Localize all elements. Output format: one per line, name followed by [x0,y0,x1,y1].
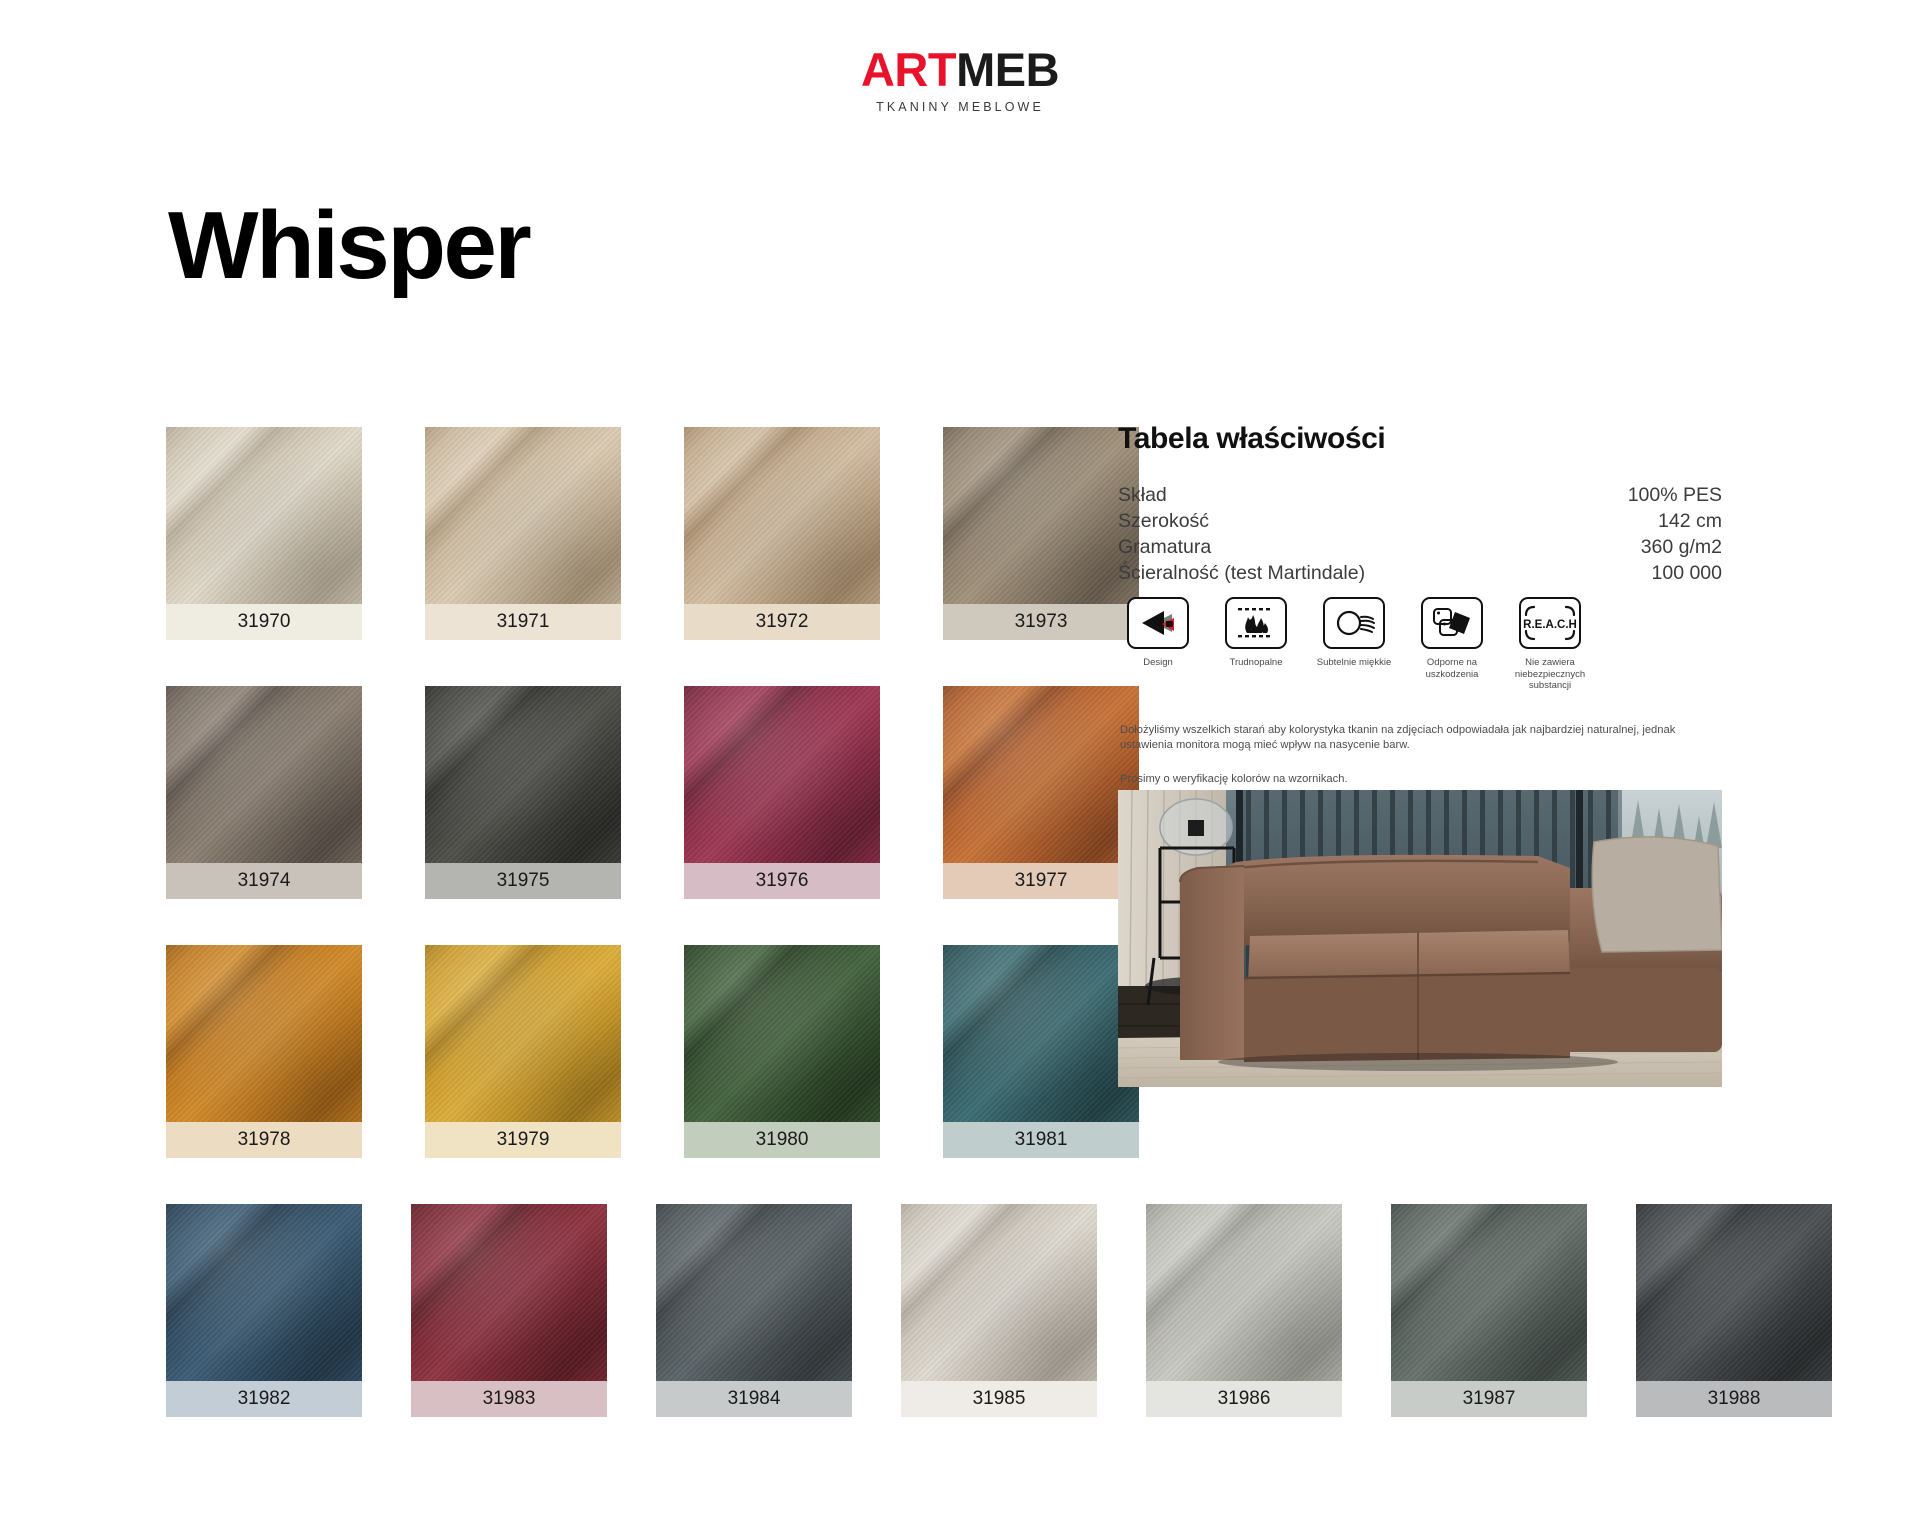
swatch-code-label: 31977 [943,863,1139,899]
feature-item: R.E.A.C.HNie zawiera niebezpiecznych sub… [1512,597,1588,692]
swatch-image [411,1204,607,1381]
swatch-image [656,1204,852,1381]
swatch-code-label: 31976 [684,863,880,899]
swatch-texture [684,427,880,604]
disclaimer-block: Dołożyliśmy wszelkich starań aby kolorys… [1120,723,1720,787]
swatch-code-label: 31982 [166,1381,362,1417]
damage-resistant-icon [1421,597,1483,649]
properties-panel: Tabela właściwości Skład100% PESSzerokoś… [1118,422,1722,586]
swatch-code-label: 31978 [166,1122,362,1158]
swatch-code-label: 31983 [411,1381,607,1417]
swatch-texture [1391,1204,1587,1381]
feature-item: Trudnopalne [1218,597,1294,692]
swatch-texture [166,945,362,1122]
logo-art-text: ART [861,43,956,96]
property-label: Szerokość [1118,508,1209,534]
swatch-texture [684,945,880,1122]
fabric-swatch[interactable]: 31978 [166,945,362,1158]
swatch-image [1146,1204,1342,1381]
properties-table: Skład100% PESSzerokość142 cmGramatura360… [1118,482,1722,586]
property-value: 100 000 [1652,560,1723,586]
property-value: 360 g/m2 [1641,534,1722,560]
fabric-swatch[interactable]: 31985 [901,1204,1097,1417]
fabric-swatch[interactable]: 31974 [166,686,362,899]
feature-item: Odporne na uszkodzenia [1414,597,1490,692]
reach-icon: R.E.A.C.H [1519,597,1581,649]
swatch-code-label: 31980 [684,1122,880,1158]
swatch-texture [425,427,621,604]
swatch-texture [411,1204,607,1381]
swatch-image [943,427,1139,604]
design-arrow-icon [1127,597,1189,649]
site-header: ARTMEB TKANINY MEBLOWE [0,46,1920,114]
swatch-code-label: 31987 [1391,1381,1587,1417]
swatch-texture [684,686,880,863]
artmeb-logo: ARTMEB [0,46,1920,93]
swatch-code-label: 31971 [425,604,621,640]
property-row: Szerokość142 cm [1118,508,1722,534]
swatch-code-label: 31970 [166,604,362,640]
swatch-texture [166,427,362,604]
property-row: Skład100% PES [1118,482,1722,508]
swatch-code-label: 31986 [1146,1381,1342,1417]
disclaimer-paragraph-2: Prosimy o weryfikację kolorów na wzornik… [1120,772,1720,787]
swatch-image [166,945,362,1122]
feature-label: Nie zawiera niebezpiecznych substancji [1512,657,1588,692]
sofa-illustration [1118,790,1722,1087]
logo-tagline: TKANINY MEBLOWE [0,100,1920,114]
fabric-swatch[interactable]: 31979 [425,945,621,1158]
swatch-code-label: 31972 [684,604,880,640]
property-label: Skład [1118,482,1167,508]
logo-meb-text: MEB [956,43,1059,96]
fabric-swatch[interactable]: 31980 [684,945,880,1158]
fabric-swatch[interactable]: 31984 [656,1204,852,1417]
swatch-texture [943,686,1139,863]
swatch-image [943,945,1139,1122]
feature-icon-row: DesignTrudnopalneSubtelnie miękkieOdporn… [1120,597,1588,692]
swatch-code-label: 31985 [901,1381,1097,1417]
swatch-code-label: 31979 [425,1122,621,1158]
fabric-swatch[interactable]: 31983 [411,1204,607,1417]
swatch-texture [1146,1204,1342,1381]
swatch-texture [943,945,1139,1122]
svg-text:R.E.A.C.H: R.E.A.C.H [1523,619,1577,631]
swatch-image [166,1204,362,1381]
swatch-texture [425,686,621,863]
fabric-swatch[interactable]: 31975 [425,686,621,899]
swatch-code-label: 31984 [656,1381,852,1417]
swatch-image [425,945,621,1122]
fabric-swatch[interactable]: 31987 [1391,1204,1587,1417]
swatch-image [684,686,880,863]
fabric-swatch[interactable]: 31970 [166,427,362,640]
swatch-image [943,686,1139,863]
swatch-code-label: 31974 [166,863,362,899]
swatch-row: 31982319833198431985319863198731988 [166,1204,1722,1417]
swatch-texture [901,1204,1097,1381]
feature-item: Subtelnie miękkie [1316,597,1392,692]
flame-icon [1225,597,1287,649]
property-label: Ścieralność (test Martindale) [1118,560,1365,586]
property-row: Gramatura360 g/m2 [1118,534,1722,560]
swatch-texture [1636,1204,1832,1381]
property-value: 142 cm [1658,508,1722,534]
property-label: Gramatura [1118,534,1211,560]
swatch-image [1636,1204,1832,1381]
swatch-code-label: 31975 [425,863,621,899]
swatch-texture [943,427,1139,604]
fabric-swatch[interactable]: 31986 [1146,1204,1342,1417]
swatch-code-label: 31981 [943,1122,1139,1158]
swatch-image [684,945,880,1122]
fabric-swatch[interactable]: 31981 [943,945,1139,1158]
swatch-texture [166,686,362,863]
swatch-image [425,686,621,863]
feature-label: Trudnopalne [1218,657,1294,669]
fabric-swatch[interactable]: 31976 [684,686,880,899]
swatch-image [166,686,362,863]
fabric-swatch[interactable]: 31977 [943,686,1139,899]
swatch-image [425,427,621,604]
feature-label: Design [1120,657,1196,669]
swatch-texture [425,945,621,1122]
swatch-image [901,1204,1097,1381]
feature-label: Subtelnie miękkie [1316,657,1392,669]
fabric-swatch[interactable]: 31988 [1636,1204,1832,1417]
swatch-image [684,427,880,604]
swatch-code-label: 31973 [943,604,1139,640]
property-value: 100% PES [1628,482,1722,508]
property-row: Ścieralność (test Martindale)100 000 [1118,560,1722,586]
swatch-texture [166,1204,362,1381]
fabric-swatch[interactable]: 31971 [425,427,621,640]
fabric-swatch[interactable]: 31973 [943,427,1139,640]
swatch-image [1391,1204,1587,1381]
swatch-code-label: 31988 [1636,1381,1832,1417]
disclaimer-paragraph-1: Dołożyliśmy wszelkich starań aby kolorys… [1120,723,1720,753]
fabric-swatch[interactable]: 31972 [684,427,880,640]
page-title: Whisper [168,198,529,294]
feature-label: Odporne na uszkodzenia [1414,657,1490,680]
sofa-lifestyle-photo [1118,790,1722,1087]
properties-heading: Tabela właściwości [1118,422,1722,456]
swatch-texture [656,1204,852,1381]
feature-item: Design [1120,597,1196,692]
swatch-image [166,427,362,604]
fabric-swatch[interactable]: 31982 [166,1204,362,1417]
soft-touch-icon [1323,597,1385,649]
